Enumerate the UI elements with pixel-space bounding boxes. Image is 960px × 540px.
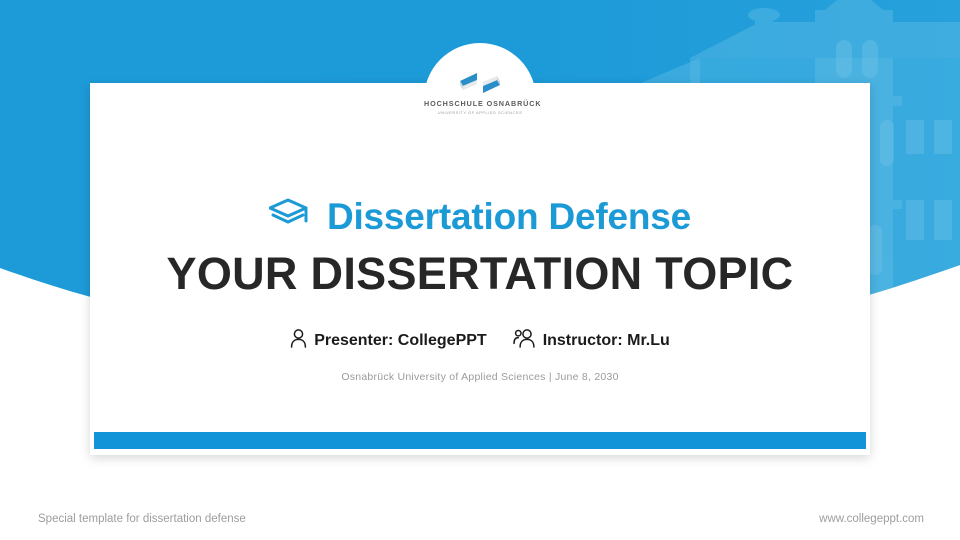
logo-name: HOCHSCHULE OSNABRÜCK [424, 99, 536, 108]
university-logo: HOCHSCHULE OSNABRÜCK UNIVERSITY OF APPLI… [424, 70, 536, 115]
double-chevron-arrows-logo-icon [424, 70, 536, 96]
graduation-cap-icon [269, 196, 313, 237]
page-title: YOUR DISSERTATION TOPIC [90, 250, 870, 299]
instructor-credit: Instructor: Mr.Lu [513, 329, 670, 353]
instructor-label: Instructor: Mr.Lu [543, 332, 670, 350]
credits-row: Presenter: CollegePPT Instructor: Mr.Lu [90, 329, 870, 353]
headline-text: Dissertation Defense [327, 198, 691, 235]
presenter-label: Presenter: CollegePPT [314, 332, 487, 350]
meta-line: Osnabrück University of Applied Sciences… [90, 371, 870, 383]
card-accent-bar [94, 432, 866, 449]
footer-left-text: Special template for dissertation defens… [38, 513, 246, 525]
person-icon [290, 329, 307, 353]
title-slide: Dissertation Defense YOUR DISSERTATION T… [0, 0, 960, 540]
footer-right-url: www.collegeppt.com [819, 513, 924, 525]
headline-row: Dissertation Defense [90, 196, 870, 237]
two-people-icon [513, 329, 536, 353]
logo-subtitle: UNIVERSITY OF APPLIED SCIENCES [424, 110, 536, 115]
presenter-credit: Presenter: CollegePPT [290, 329, 487, 353]
